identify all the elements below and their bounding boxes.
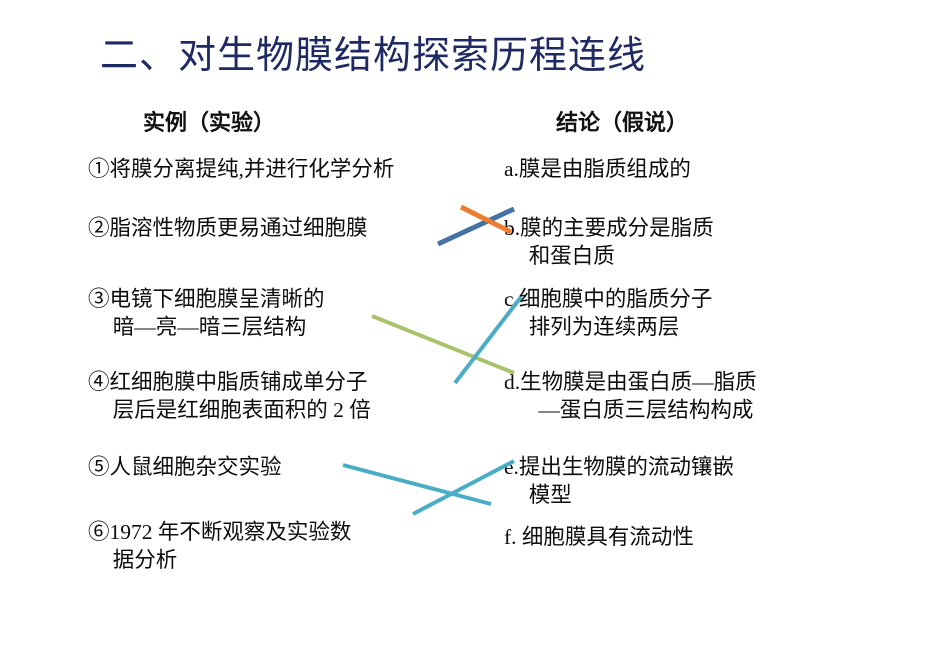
right-item-d-line1: d.生物膜是由蛋白质—脂质 bbox=[504, 370, 757, 394]
right-item-d[interactable]: d.生物膜是由蛋白质—脂质 —蛋白质三层结构构成 bbox=[504, 368, 757, 424]
page-title: 二、对生物膜结构探索历程连线 bbox=[100, 33, 860, 79]
left-item-4[interactable]: ④红细胞膜中脂质铺成单分子 层后是红细胞表面积的 2 倍 bbox=[88, 368, 371, 424]
column-header-left: 实例（实验） bbox=[143, 105, 275, 137]
right-item-a[interactable]: a.膜是由脂质组成的 bbox=[504, 155, 691, 183]
right-item-b-line2: 和蛋白质 bbox=[504, 242, 714, 270]
left-item-6[interactable]: ⑥1972 年不断观察及实验数 据分析 bbox=[88, 518, 351, 574]
connector-green[interactable] bbox=[372, 316, 514, 373]
left-item-5[interactable]: ⑤人鼠细胞杂交实验 bbox=[88, 453, 282, 481]
left-item-3[interactable]: ③电镜下细胞膜呈清晰的 暗—亮—暗三层结构 bbox=[88, 285, 325, 341]
left-item-4-line1: ④红细胞膜中脂质铺成单分子 bbox=[88, 370, 368, 394]
left-item-1[interactable]: ①将膜分离提纯,并进行化学分析 bbox=[88, 155, 394, 183]
right-item-c[interactable]: c.细胞膜中的脂质分子 排列为连续两层 bbox=[504, 285, 712, 341]
right-item-c-line1: c.细胞膜中的脂质分子 bbox=[504, 287, 712, 311]
right-item-f[interactable]: f. 细胞膜具有流动性 bbox=[504, 523, 694, 551]
right-item-a-line1: a.膜是由脂质组成的 bbox=[504, 157, 691, 181]
left-item-5-line1: ⑤人鼠细胞杂交实验 bbox=[88, 455, 282, 479]
right-item-b-line1: b.膜的主要成分是脂质 bbox=[504, 216, 714, 240]
right-item-e-line1: e.提出生物膜的流动镶嵌 bbox=[504, 455, 734, 479]
left-item-3-line1: ③电镜下细胞膜呈清晰的 bbox=[88, 287, 325, 311]
slide-canvas: 二、对生物膜结构探索历程连线 实例（实验） 结论（假说） ①将膜分离提纯,并进行… bbox=[0, 0, 950, 658]
right-item-d-line2: —蛋白质三层结构构成 bbox=[504, 396, 757, 424]
right-item-b[interactable]: b.膜的主要成分是脂质 和蛋白质 bbox=[504, 214, 714, 270]
left-item-6-line1: ⑥1972 年不断观察及实验数 bbox=[88, 520, 351, 544]
right-item-e-line2: 模型 bbox=[504, 481, 734, 509]
right-item-e[interactable]: e.提出生物膜的流动镶嵌 模型 bbox=[504, 453, 734, 509]
right-item-c-line2: 排列为连续两层 bbox=[504, 313, 712, 341]
left-item-4-line2: 层后是红细胞表面积的 2 倍 bbox=[88, 396, 371, 424]
left-item-2[interactable]: ②脂溶性物质更易通过细胞膜 bbox=[88, 214, 368, 242]
left-item-1-line1: ①将膜分离提纯,并进行化学分析 bbox=[88, 157, 394, 181]
left-item-6-line2: 据分析 bbox=[88, 546, 351, 574]
connector-cyan-3[interactable] bbox=[413, 461, 514, 514]
right-item-f-line1: f. 细胞膜具有流动性 bbox=[504, 525, 694, 549]
left-item-2-line1: ②脂溶性物质更易通过细胞膜 bbox=[88, 216, 368, 240]
column-header-right: 结论（假说） bbox=[556, 105, 688, 137]
connector-blue[interactable] bbox=[438, 209, 514, 244]
connector-cyan-2[interactable] bbox=[343, 465, 491, 504]
left-item-3-line2: 暗—亮—暗三层结构 bbox=[88, 313, 325, 341]
